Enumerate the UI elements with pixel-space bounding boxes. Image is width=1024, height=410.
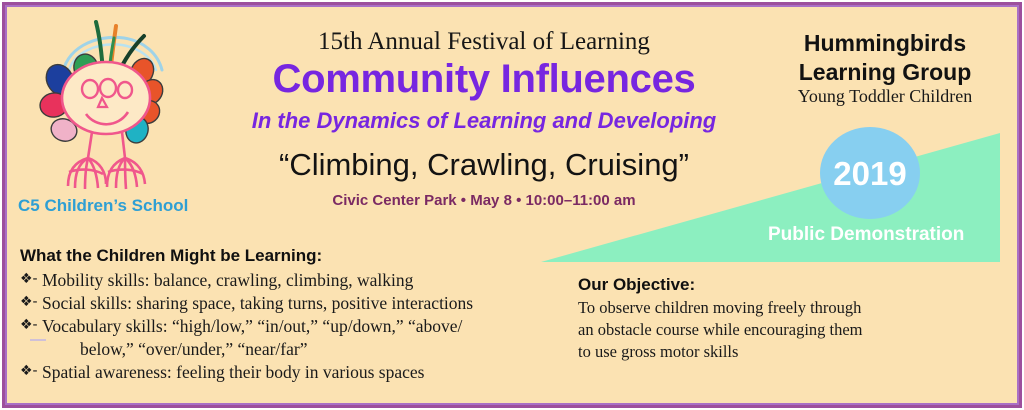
diamond-bullet-icon: ❖- [20,292,42,311]
list-item-label-wrapper: Vocabulary skills: “high/low,” “in/out,”… [42,315,550,361]
page-title: Community Influences [204,57,764,102]
theme-quote-label: “Climbing, Crawling, Cruising” [204,147,764,183]
list-item: ❖- Mobility skills: balance, crawling, c… [20,269,550,292]
year-label: 2019 [833,157,906,190]
diamond-bullet-icon: ❖- [20,315,42,334]
group-age-label: Young Toddler Children [760,86,1010,107]
group-name-block: Hummingbirds Learning Group [760,29,1010,86]
learning-list-block: What the Children Might be Learning: ❖- … [20,246,550,384]
diamond-bullet-icon: ❖- [20,361,42,380]
public-demonstration-label: Public Demonstration [768,224,988,246]
year-badge: 2019 [820,127,920,219]
learning-list-heading: What the Children Might be Learning: [20,246,550,266]
diamond-bullet-icon: ❖- [20,269,42,288]
group-name-line2: Learning Group [760,58,1010,87]
list-item: ❖- Social skills: sharing space, taking … [20,292,550,315]
list-item-label: Spatial awareness: feeling their body in… [42,361,550,384]
objective-line: To observe children moving freely throug… [578,297,908,319]
list-item: ❖- Vocabulary skills: “high/low,” “in/ou… [20,315,550,361]
event-details-label: Civic Center Park • May 8 • 10:00–11:00 … [204,192,764,209]
list-item-continuation: below,” “over/under,” “near/far” [42,338,550,361]
objective-block: Our Objective: To observe children movin… [578,275,908,363]
page-subtitle: In the Dynamics of Learning and Developi… [204,108,764,134]
faint-dash-artifact [30,339,46,341]
group-name-line1: Hummingbirds [760,29,1010,58]
objective-line: an obstacle course while encouraging the… [578,319,908,341]
objective-heading: Our Objective: [578,275,908,295]
objective-line: to use gross motor skills [578,341,908,363]
poster-canvas: 2019 Public Demonstration [0,0,1024,410]
list-item-label: Vocabulary skills: “high/low,” “in/out,”… [42,316,462,336]
list-item: ❖- Spatial awareness: feeling their body… [20,361,550,384]
list-item-label: Social skills: sharing space, taking tur… [42,292,550,315]
festival-line-label: 15th Annual Festival of Learning [204,28,764,56]
poster-root: 2019 Public Demonstration [0,0,1024,410]
child-drawing-figure-icon [24,12,192,192]
list-item-label: Mobility skills: balance, crawling, clim… [42,269,550,292]
